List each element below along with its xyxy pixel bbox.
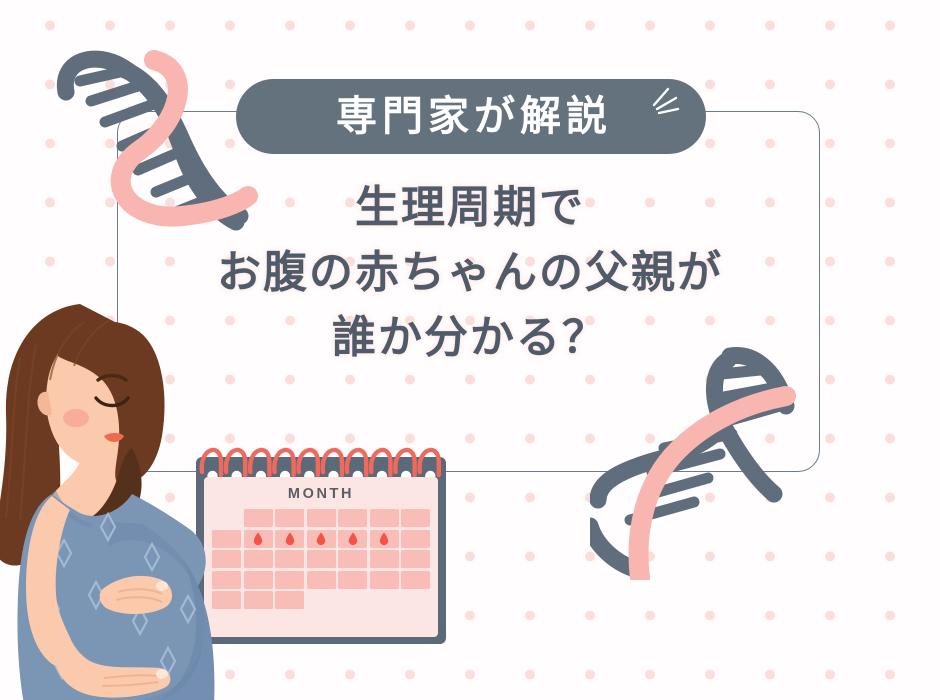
calendar-day-cell[interactable] — [370, 571, 399, 589]
calendar-day-cell[interactable] — [307, 509, 336, 527]
calendar-day-cell[interactable] — [275, 509, 304, 527]
blood-drop-icon — [380, 532, 389, 545]
pregnant-woman-illustration — [0, 296, 242, 700]
blood-drop-icon — [348, 532, 357, 545]
calendar-empty-cell — [307, 591, 336, 609]
expert-badge[interactable]: 専門家が解説 — [236, 79, 706, 154]
calendar-day-cell[interactable] — [338, 530, 367, 548]
blood-drop-icon — [317, 532, 326, 545]
blood-drop-icon — [285, 532, 294, 545]
calendar-day-cell[interactable] — [370, 530, 399, 548]
poster-canvas: 専門家が解説 生理周期で お腹の赤ちゃんの父親が 誰か分かる？ MONTH — [0, 0, 940, 700]
calendar-day-cell[interactable] — [244, 509, 273, 527]
calendar-day-cell[interactable] — [307, 571, 336, 589]
calendar-day-cell[interactable] — [275, 591, 304, 609]
calendar-day-cell[interactable] — [370, 509, 399, 527]
calendar-day-cell[interactable] — [307, 530, 336, 548]
calendar-empty-cell — [370, 591, 399, 609]
calendar-day-cell[interactable] — [370, 550, 399, 568]
calendar-day-cell[interactable] — [401, 550, 430, 568]
calendar-day-cell[interactable] — [307, 550, 336, 568]
calendar-day-cell[interactable] — [244, 571, 273, 589]
calendar-day-cell[interactable] — [275, 550, 304, 568]
calendar-day-cell[interactable] — [401, 509, 430, 527]
expert-badge-label: 専門家が解説 — [336, 96, 612, 137]
calendar-empty-cell — [338, 591, 367, 609]
calendar-day-cell[interactable] — [338, 550, 367, 568]
calendar-day-cell[interactable] — [275, 571, 304, 589]
calendar-day-cell[interactable] — [275, 530, 304, 548]
calendar-empty-cell — [401, 591, 430, 609]
blood-drop-icon — [254, 532, 263, 545]
calendar-day-cell[interactable] — [244, 550, 273, 568]
sparkle-icon — [642, 85, 682, 121]
calendar-day-cell[interactable] — [244, 530, 273, 548]
calendar-day-cell[interactable] — [338, 571, 367, 589]
calendar-day-cell[interactable] — [338, 509, 367, 527]
calendar-day-cell[interactable] — [401, 571, 430, 589]
calendar-day-cell[interactable] — [244, 591, 273, 609]
calendar-day-cell[interactable] — [401, 530, 430, 548]
headline-line-1: 生理周期で — [130, 175, 810, 240]
